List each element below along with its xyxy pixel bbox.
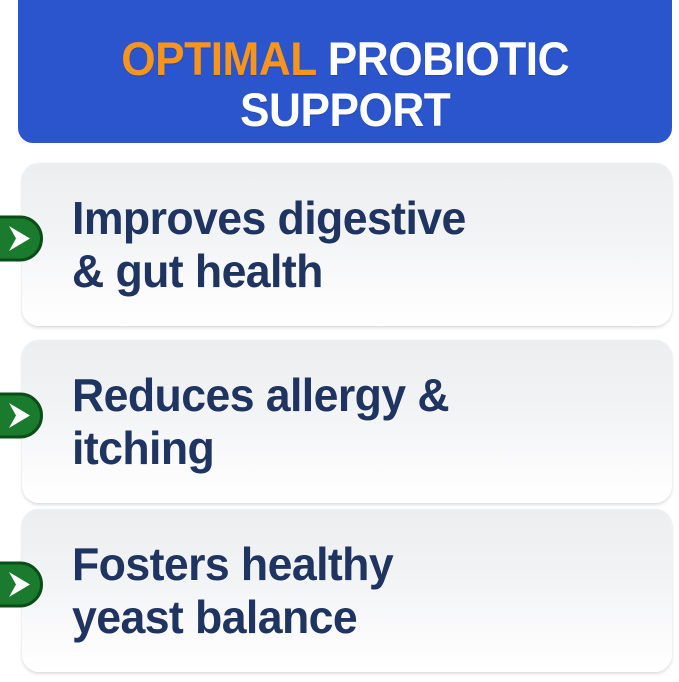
banner-accent-word: OPTIMAL	[121, 32, 316, 85]
benefit-text-1: Improves digestive & gut health	[72, 192, 466, 297]
banner-title-rest: PROBIOTIC	[316, 32, 569, 85]
banner-title: OPTIMAL PROBIOTICSUPPORT	[121, 34, 569, 135]
benefit-card-2: Reduces allergy & itching	[22, 340, 672, 503]
chevron-right-icon	[0, 391, 44, 440]
probiotic-benefits-infographic: OPTIMAL PROBIOTICSUPPORT Improves digest…	[0, 0, 679, 682]
chevron-right-icon	[0, 560, 44, 609]
benefit-text-2: Reduces allergy & itching	[72, 369, 449, 474]
benefit-text-3: Fosters healthy yeast balance	[72, 538, 393, 643]
benefit-card-3: Fosters healthy yeast balance	[22, 509, 672, 672]
banner-title-line2: SUPPORT	[240, 83, 450, 136]
benefit-card-1: Improves digestive & gut health	[22, 163, 672, 326]
header-banner: OPTIMAL PROBIOTICSUPPORT	[18, 0, 672, 143]
chevron-right-icon	[0, 214, 44, 263]
